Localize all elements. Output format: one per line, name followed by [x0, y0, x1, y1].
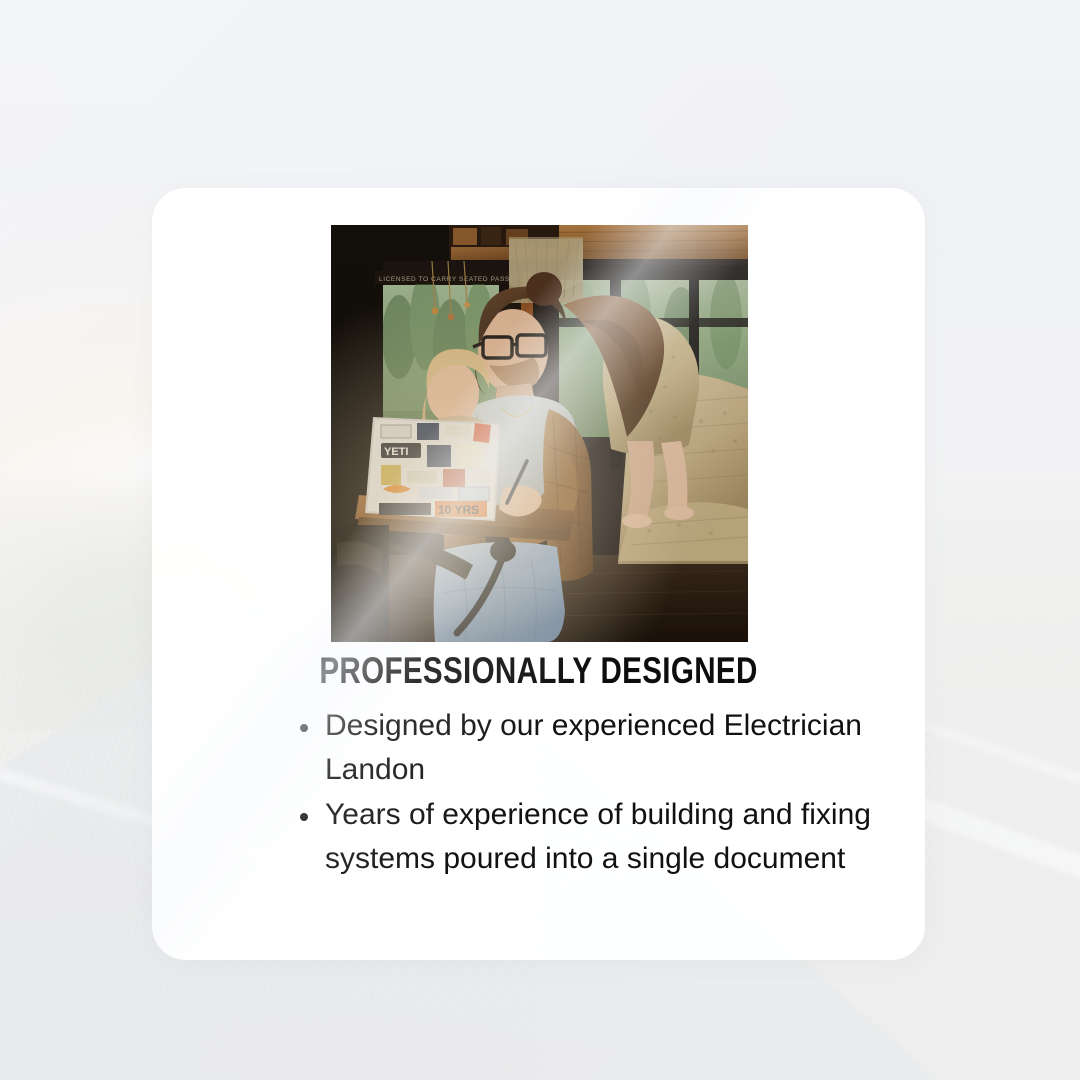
benefit-list: Designed by our experienced Electrician …: [152, 704, 925, 881]
list-item: Years of experience of building and fixi…: [298, 793, 885, 881]
text-block: PROFESSIONALLY DESIGNED Designed by our …: [152, 650, 925, 882]
page-title: PROFESSIONALLY DESIGNED: [229, 650, 847, 692]
content-card: LICENSED TO CARRY SEATED PASSENGERS: [152, 188, 925, 960]
feature-photo: LICENSED TO CARRY SEATED PASSENGERS: [331, 225, 748, 642]
list-item: Designed by our experienced Electrician …: [298, 704, 885, 792]
